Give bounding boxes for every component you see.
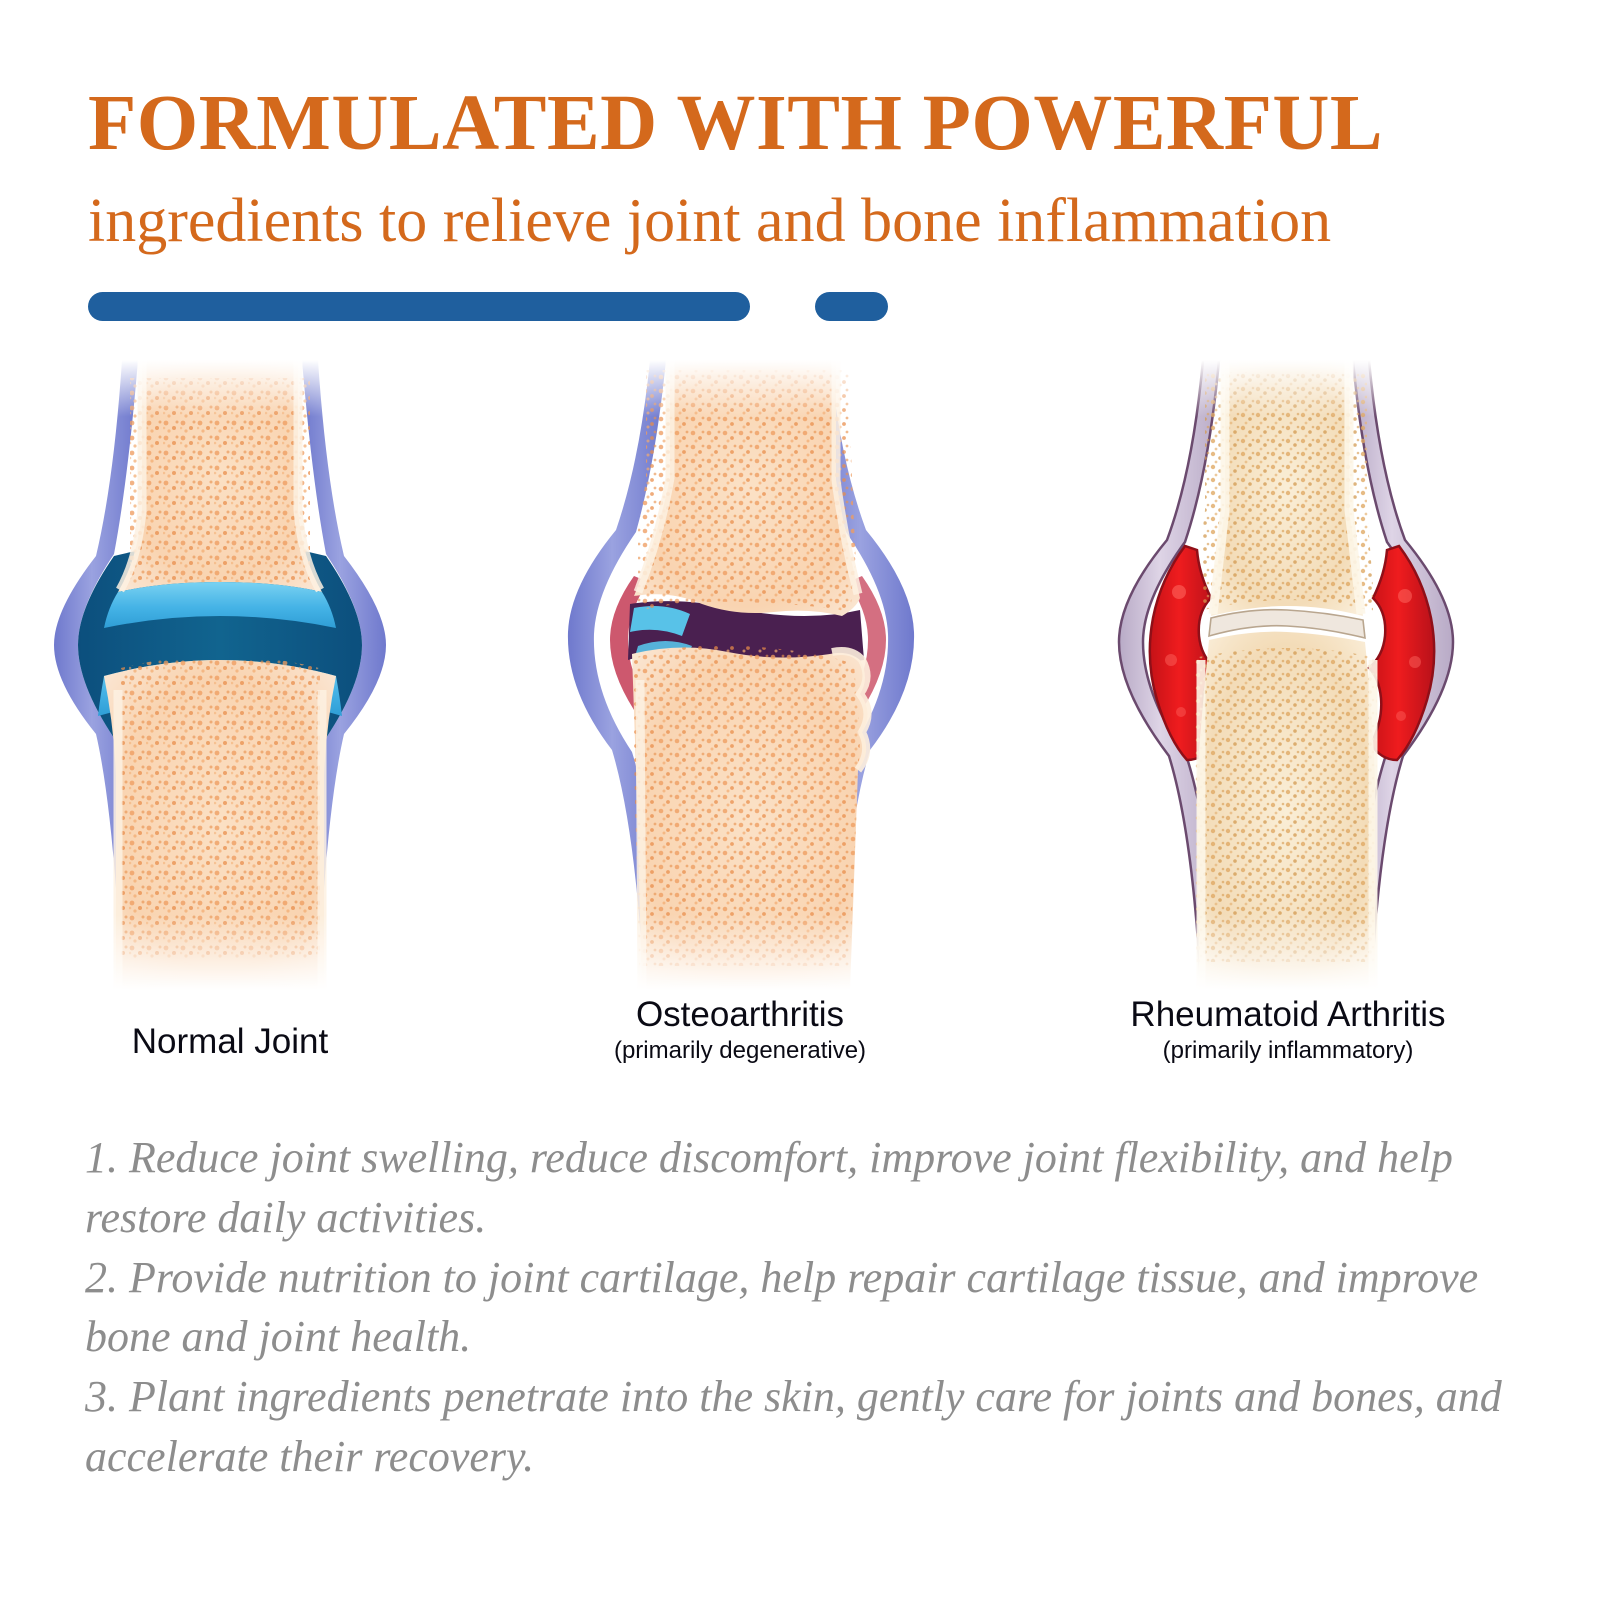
- rheumatoid-arthritis-svg: [1075, 360, 1495, 990]
- fade-mask: [10, 360, 430, 990]
- benefits-list: 1. Reduce joint swelling, reduce discomf…: [85, 1128, 1505, 1487]
- divider-bar-long: [88, 292, 750, 321]
- caption-osteoarthritis: Osteoarthritis (primarily degenerative): [525, 995, 955, 1066]
- caption-title: Normal Joint: [15, 1022, 445, 1062]
- benefit-item-2: 2. Provide nutrition to joint cartilage,…: [85, 1248, 1505, 1368]
- caption-subtitle: (primarily degenerative): [525, 1037, 955, 1066]
- caption-rheumatoid-arthritis: Rheumatoid Arthritis (primarily inflamma…: [1073, 995, 1503, 1066]
- caption-subtitle: (primarily inflammatory): [1073, 1037, 1503, 1066]
- caption-title: Rheumatoid Arthritis: [1073, 995, 1503, 1035]
- page-title: FORMULATED WITH POWERFUL: [88, 84, 1383, 163]
- divider-bar-short: [815, 292, 888, 321]
- illustration-osteoarthritis: [530, 360, 950, 990]
- osteoarthritis-svg: [530, 360, 950, 990]
- caption-normal-joint: Normal Joint: [15, 995, 445, 1064]
- illustration-normal-joint: [10, 360, 430, 990]
- illustration-rheumatoid-arthritis: [1075, 360, 1495, 990]
- benefit-item-3: 3. Plant ingredients penetrate into the …: [85, 1367, 1505, 1487]
- benefit-item-1: 1. Reduce joint swelling, reduce discomf…: [85, 1128, 1505, 1248]
- figure-captions: Normal Joint Osteoarthritis (primarily d…: [0, 995, 1597, 1085]
- osteoarthritis-body: [530, 360, 950, 990]
- caption-title: Osteoarthritis: [525, 995, 955, 1035]
- fade-mask: [530, 360, 950, 990]
- joint-illustrations: [0, 360, 1597, 990]
- normal-joint-svg: [10, 360, 430, 990]
- page-subtitle: ingredients to relieve joint and bone in…: [88, 190, 1331, 252]
- rheumatoid-arthritis-body: [1075, 360, 1495, 990]
- fade-mask: [1075, 360, 1495, 990]
- normal-joint-body: [10, 360, 430, 990]
